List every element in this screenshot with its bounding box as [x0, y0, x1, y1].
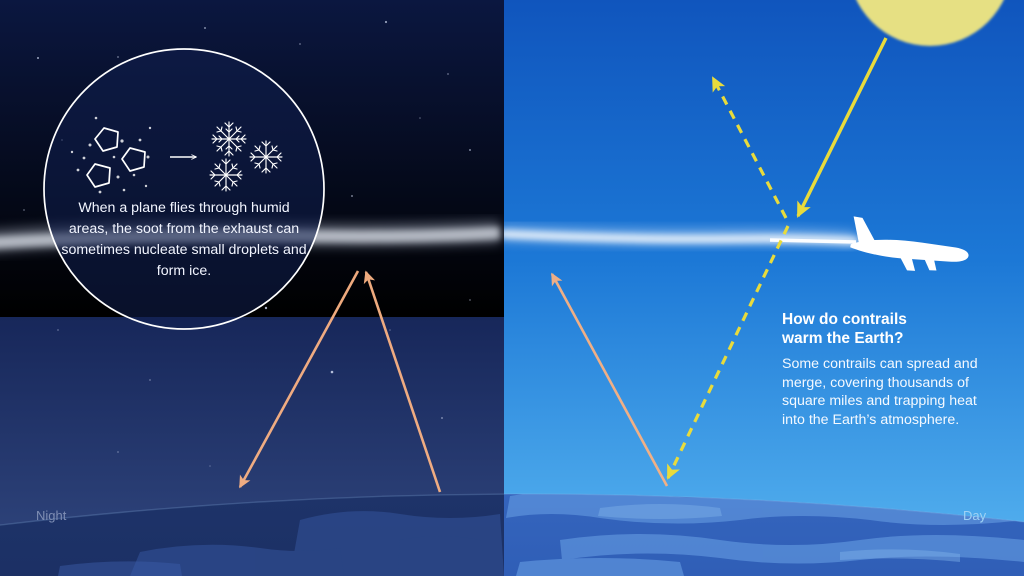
infographic-canvas: What’s in a contrail? When a plane flies… [0, 0, 1024, 576]
day-panel-title-line2: warm the Earth? [782, 330, 903, 347]
day-panel-title: How do contrails warm the Earth? [782, 310, 982, 348]
day-sky [504, 0, 1024, 576]
scene-artwork [0, 0, 1024, 576]
callout-circle [44, 49, 324, 329]
day-panel-title-line1: How do contrails [782, 311, 907, 328]
day-panel-body: Some contrails can spread and merge, cov… [782, 355, 978, 429]
label-day: Day [963, 508, 986, 523]
label-night: Night [36, 508, 66, 523]
callout-body: When a plane flies through humid areas, … [58, 198, 310, 282]
